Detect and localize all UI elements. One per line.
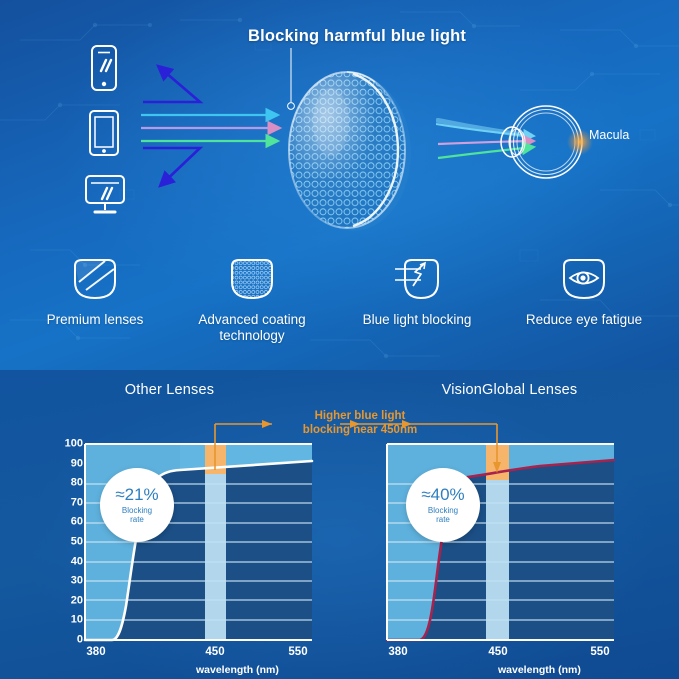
monitor-icon <box>82 173 128 219</box>
feature-label: Blue light blocking <box>333 312 501 328</box>
blocking-rate-caption: Blocking rate <box>122 506 152 524</box>
blocked-ray-upper <box>143 66 200 102</box>
phone-icon <box>84 44 124 92</box>
feature-label: Reduce eye fatigue <box>498 312 670 328</box>
coating-lens-icon <box>168 255 336 303</box>
blue-light-blocking-lens-icon <box>333 255 501 303</box>
feature-item-advanced-coating[interactable]: Advanced coating technology <box>168 255 336 344</box>
x-axis-ticks-right: 380450550 <box>340 646 679 660</box>
blocking-rate-caption: Blocking rate <box>428 506 458 524</box>
x-axis-label-right: wavelength (nm) <box>498 664 581 676</box>
blocking-rate-badge-right: ≈40% Blocking rate <box>406 468 480 542</box>
macula-label: Macula <box>589 128 629 142</box>
eye-anatomy-icon <box>488 92 598 192</box>
feature-label: Premium lenses <box>10 312 180 328</box>
blocking-rate-value: ≈40% <box>421 486 464 503</box>
feature-label: Advanced coating technology <box>168 312 336 344</box>
feature-item-reduce-eye-fatigue[interactable]: Reduce eye fatigue <box>498 255 670 328</box>
feature-list: Premium lenses Advanced coating technolo… <box>0 255 679 355</box>
hero-title: Blocking harmful blue light <box>248 27 466 46</box>
y-axis-ticks-left: 1009080 706050 403020 100 <box>52 444 83 640</box>
x-axis-label-left: wavelength (nm) <box>196 664 279 676</box>
blocking-rate-badge-left: ≈21% Blocking rate <box>100 468 174 542</box>
blocking-rate-value: ≈21% <box>115 486 158 503</box>
blocked-ray-lower <box>143 148 200 186</box>
feature-item-blue-light-blocking[interactable]: Blue light blocking <box>333 255 501 328</box>
eye-lens-icon <box>498 255 670 303</box>
x-axis-ticks-left: 380450550 <box>0 646 339 660</box>
feature-item-premium-lenses[interactable]: Premium lenses <box>10 255 180 328</box>
premium-lens-icon <box>10 255 180 303</box>
infographic-root: Blocking harmful blue light <box>0 0 679 679</box>
tablet-icon <box>84 109 124 157</box>
blue-light-annotation: Higher blue light blocking near 450nm <box>286 409 434 438</box>
lens-honeycomb-icon <box>255 60 445 240</box>
